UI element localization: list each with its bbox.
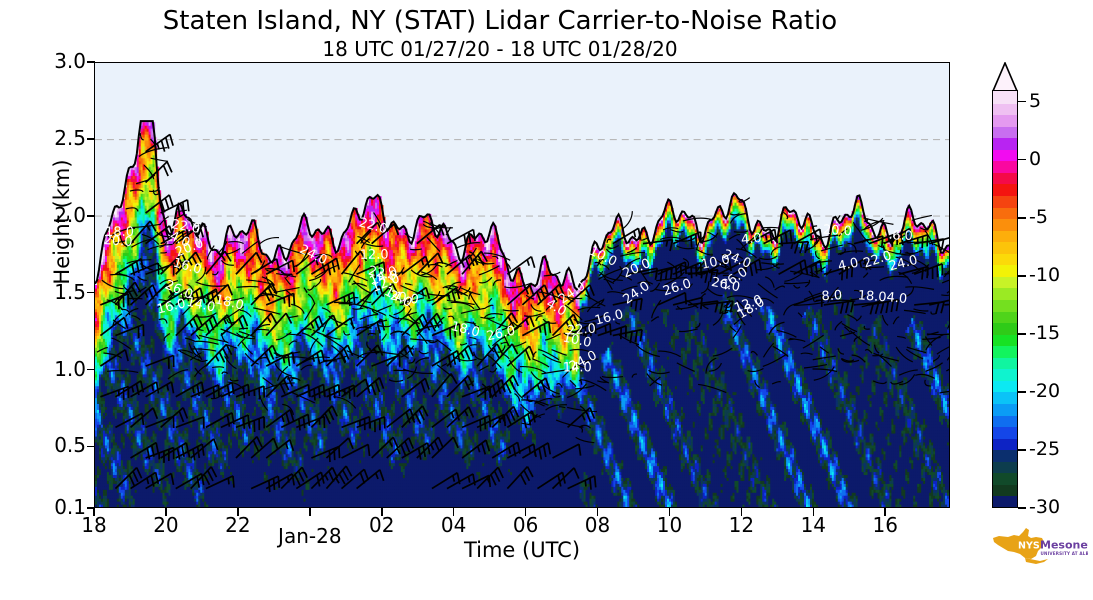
plot-area[interactable]: 14.012.04.022.010.020.022.026.022.018.02… — [94, 62, 950, 508]
cnr-heatmap: 14.012.04.022.010.020.022.026.022.018.02… — [95, 63, 949, 507]
y-tick-label: 2.5 — [0, 126, 86, 150]
y-tick-label: 2.0 — [0, 203, 86, 227]
page-subtitle: 18 UTC 01/27/20 - 18 UTC 01/28/20 — [0, 37, 1000, 61]
page-title: Staten Island, NY (STAT) Lidar Carrier-t… — [0, 6, 1000, 36]
y-tick-label: 1.0 — [0, 357, 86, 381]
y-tick-label: 1.5 — [0, 280, 86, 304]
y-tick-label: 0.5 — [0, 433, 86, 457]
y-tick-label: 3.0 — [0, 49, 86, 73]
figure: Staten Island, NY (STAT) Lidar Carrier-t… — [0, 0, 1093, 600]
